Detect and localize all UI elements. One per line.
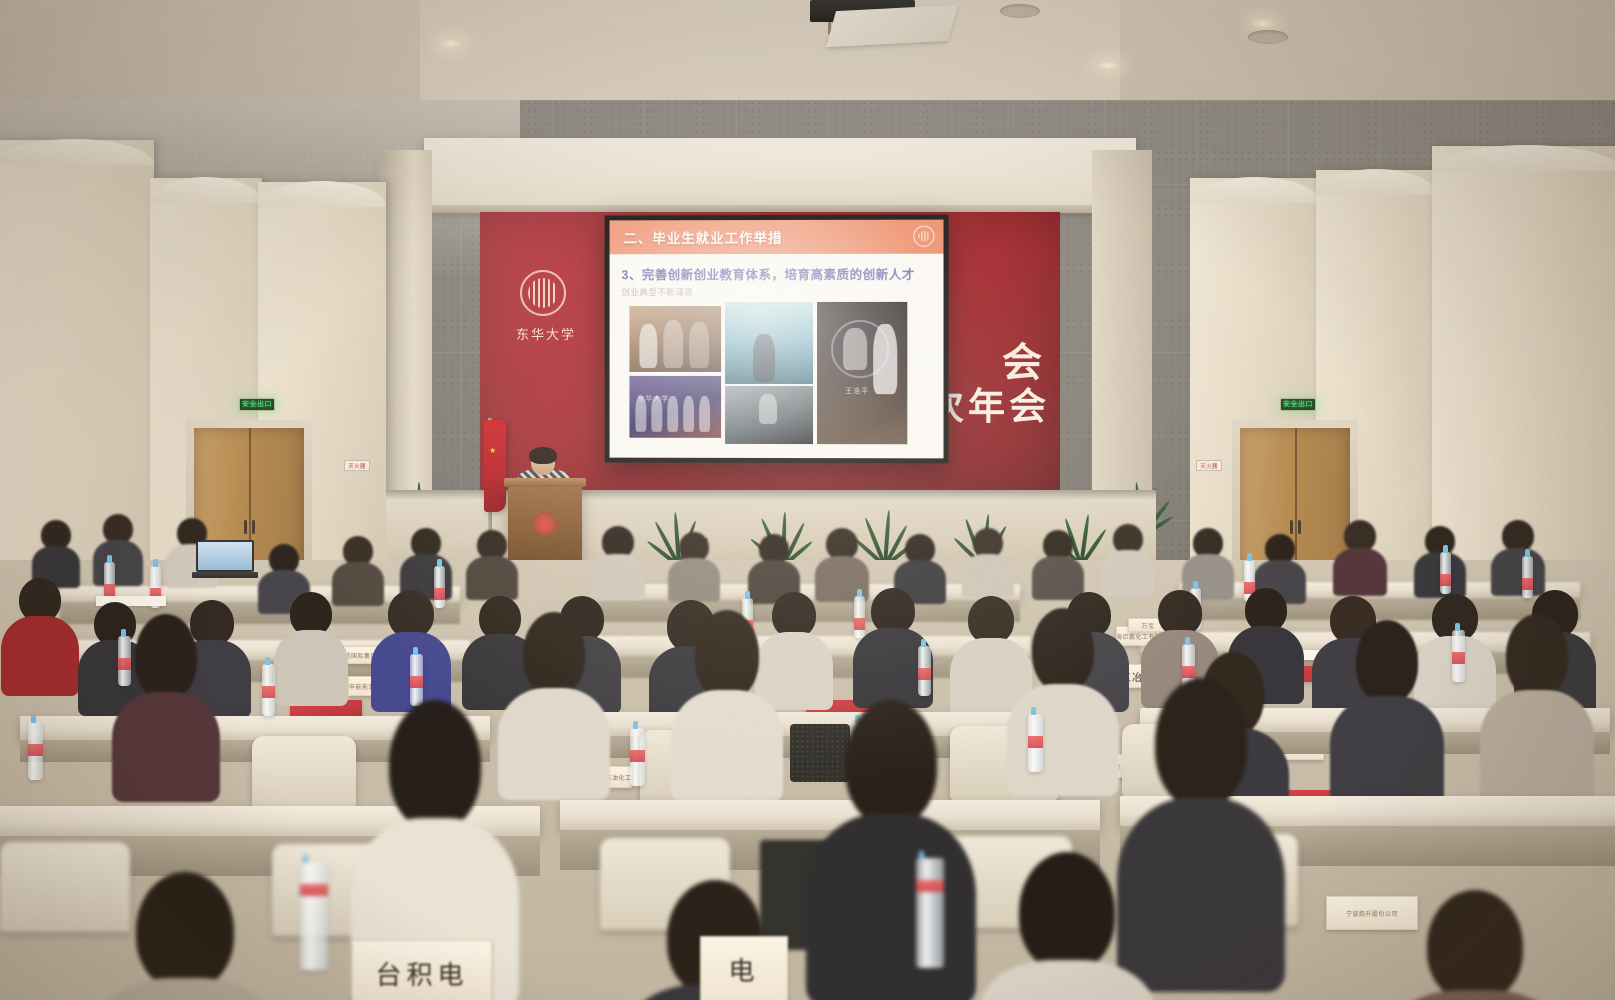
audience-member: [862, 588, 924, 698]
fire-extinguisher-sign-left: 灭火器: [344, 460, 370, 471]
ceiling-bay-left: [0, 0, 420, 100]
audience-member: [764, 592, 824, 700]
audience-member: [34, 520, 78, 582]
audience-member: [820, 528, 864, 592]
name-card-tsmc: 台积电: [352, 940, 492, 1000]
name-card-text: 电: [728, 951, 759, 988]
slide-header-title: 二、毕业生就业工作举措: [623, 227, 782, 247]
audience-member: [686, 610, 768, 780]
photo-award-ceremony: [629, 306, 721, 372]
conference-table: [560, 800, 1100, 830]
conference-chair[interactable]: [0, 842, 130, 932]
ceiling-vent-icon: [1000, 4, 1040, 18]
university-emblem-icon: [533, 512, 557, 536]
audience-member: [1106, 524, 1150, 588]
podium-top-surface: [504, 478, 586, 487]
conference-chair[interactable]: [252, 736, 356, 808]
projection-screen: 二、毕业生就业工作举措 3、完善创新创业教育体系，培育高素质的创新人才 创业典型…: [605, 215, 949, 464]
audience-member: [282, 592, 340, 698]
flag-star: ★: [489, 446, 496, 455]
podium-speaker-hair: [529, 447, 557, 464]
water-bottle: [1452, 630, 1465, 682]
exit-sign-label: 安全出口: [242, 401, 272, 408]
exit-sign-right: 安全出口: [1280, 398, 1316, 411]
audience-member: [470, 530, 514, 592]
slide-photo-grid: 东华大学 王浩平: [621, 306, 917, 440]
conference-hall-photo: 东华大学 201 暨毕业生 会 次年会 二、毕业生就业工作举措 3、完善创新创业…: [0, 0, 1615, 1000]
water-bottle: [28, 722, 43, 780]
name-card-yunsheng: 宁波韵升股份公司: [1326, 896, 1418, 930]
photo-classroom: [725, 386, 813, 444]
audience-member: [336, 536, 380, 598]
name-card-text: 宁波韵升股份公司: [1346, 909, 1398, 918]
audience-member: [96, 514, 140, 580]
photo-caption-university: 东华大学: [637, 394, 669, 404]
water-bottle: [1440, 552, 1451, 594]
projected-slide: 二、毕业生就业工作举措 3、完善创新创业教育体系，培育高素质的创新人才 创业典型…: [610, 220, 944, 459]
laptop-keyboard[interactable]: [192, 572, 258, 578]
slide-header-band: 二、毕业生就业工作举措: [610, 220, 944, 255]
photo-group-certificates: 东华大学: [629, 376, 721, 438]
audience-member: [126, 614, 206, 784]
audience-member: [1346, 620, 1428, 790]
recessed-ceiling-light-icon: [438, 38, 464, 49]
chinese-national-flag-icon: ★: [484, 420, 506, 512]
audience-member: [960, 596, 1022, 708]
water-bottle: [300, 862, 328, 970]
audience-member: [1146, 678, 1256, 978]
slide-heading: 3、完善创新创业教育体系，培育高素质的创新人才: [621, 264, 931, 283]
fire-extinguisher-sign-right: 灭火器: [1196, 460, 1222, 471]
fire-sign-label: 灭火器: [1200, 462, 1217, 470]
audience-member: [1258, 534, 1302, 596]
ceiling-vent-icon: [1248, 30, 1288, 44]
water-bottle: [1028, 714, 1043, 772]
audience-member: [10, 578, 70, 688]
audience-member: [966, 528, 1010, 590]
water-bottle: [918, 646, 931, 696]
audience-member: [514, 612, 594, 782]
laptop-computer[interactable]: [196, 540, 254, 572]
audience-member: [1338, 520, 1382, 586]
exit-sign-left: 安全出口: [239, 398, 275, 411]
audience-member: [1496, 520, 1540, 586]
audience-member: [898, 534, 942, 596]
name-card-partial: 电: [700, 936, 788, 1000]
speaker-podium: [508, 484, 582, 560]
water-bottle: [262, 664, 275, 716]
exit-sign-label: 安全出口: [1283, 401, 1313, 408]
recessed-ceiling-light-icon: [1095, 60, 1121, 71]
projector-ceiling-plate: [826, 5, 958, 47]
audience-member: [130, 872, 240, 1000]
fire-sign-label: 灭火器: [348, 462, 365, 470]
donghua-university-emblem-icon: [520, 270, 566, 316]
emblem-inner: [528, 278, 558, 308]
audience-member: [752, 534, 796, 596]
university-logo-icon: [913, 226, 934, 247]
audience-member: [1496, 614, 1578, 784]
audience-member: [1036, 530, 1080, 592]
audience-member: [1420, 890, 1530, 1000]
audience-member: [596, 526, 640, 590]
photo-caption-ceo: 王浩平: [845, 386, 869, 396]
water-bottle: [916, 858, 944, 968]
slide-subheading: 创业典型不断涌现: [621, 286, 931, 298]
audience-member: [1012, 852, 1122, 1000]
name-card-text: 台积电: [375, 955, 468, 992]
photo-startup-forum: [725, 302, 813, 384]
water-bottle: [630, 728, 645, 786]
recessed-ceiling-light-icon: [1250, 18, 1276, 29]
ceiling-bay-right: [1120, 0, 1615, 110]
photo-ceo-interview: 王浩平: [817, 302, 907, 444]
slide-body: 3、完善创新创业教育体系，培育高素质的创新人才 创业典型不断涌现: [610, 254, 944, 441]
water-bottle: [410, 654, 423, 706]
audience-member: [672, 532, 716, 594]
stage-header-soffit: [424, 138, 1136, 210]
